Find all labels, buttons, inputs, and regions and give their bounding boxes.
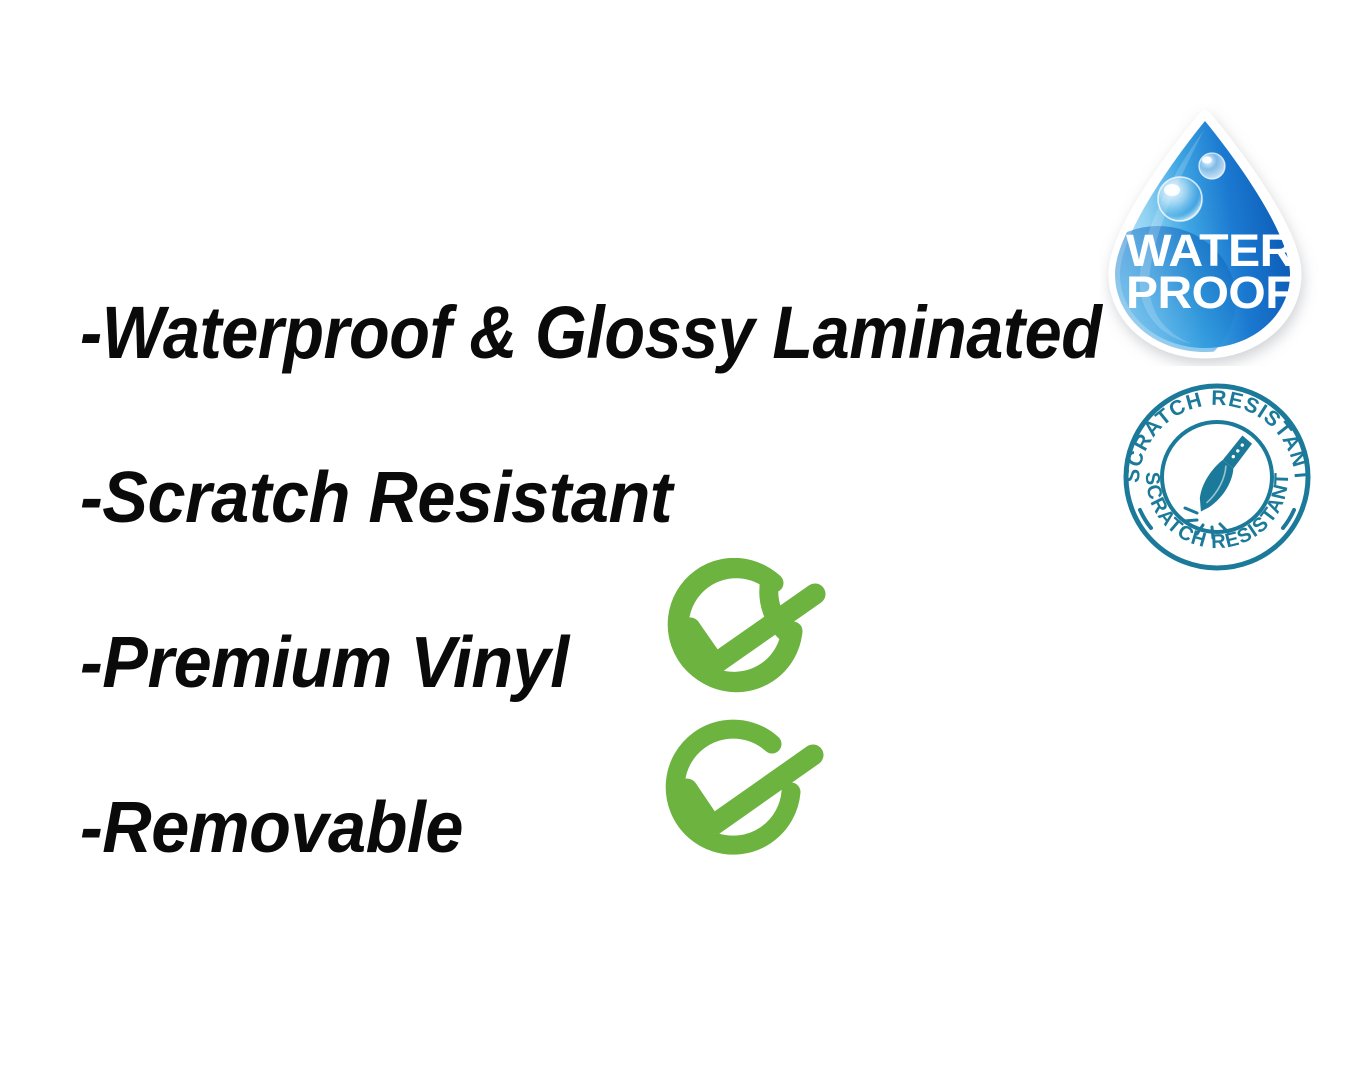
bubble-large-highlight: [1164, 184, 1180, 196]
checkmark-badge-removable: [629, 718, 841, 876]
feature-item-removable: -Removable: [80, 745, 1100, 910]
waterproof-badge: WATER PROOF: [1100, 104, 1320, 366]
bubble-small-highlight: [1202, 156, 1212, 163]
knife-icon: [1194, 429, 1254, 520]
waterproof-line-2: PROOF: [1126, 267, 1294, 318]
bubble-small-icon: [1199, 153, 1225, 179]
feature-label: -Removable: [80, 792, 463, 864]
check-circle-icon: [633, 558, 843, 713]
page-canvas: -Waterproof & Glossy Laminated -Scratch …: [0, 0, 1359, 1080]
feature-label: -Waterproof & Glossy Laminated: [80, 296, 1101, 370]
scratch-resistant-badge: SCRATCH RESISTANT SCRATCH RESISTANT: [1117, 382, 1317, 572]
check-circle-icon: [629, 718, 841, 876]
feature-list: -Waterproof & Glossy Laminated -Scratch …: [80, 250, 1100, 910]
feature-item-scratch-resistant: -Scratch Resistant: [80, 415, 1100, 580]
feature-label: -Scratch Resistant: [80, 462, 672, 534]
feature-item-premium-vinyl: -Premium Vinyl: [80, 580, 1100, 745]
checkmark-badge-premium-vinyl: [633, 558, 843, 713]
bubble-large-icon: [1158, 177, 1202, 221]
scratch-resistant-seal: SCRATCH RESISTANT SCRATCH RESISTANT: [1117, 382, 1317, 572]
feature-label: -Premium Vinyl: [80, 627, 569, 699]
feature-item-waterproof-glossy-laminated: -Waterproof & Glossy Laminated: [80, 250, 1100, 415]
water-drop-icon: WATER PROOF: [1100, 104, 1320, 366]
